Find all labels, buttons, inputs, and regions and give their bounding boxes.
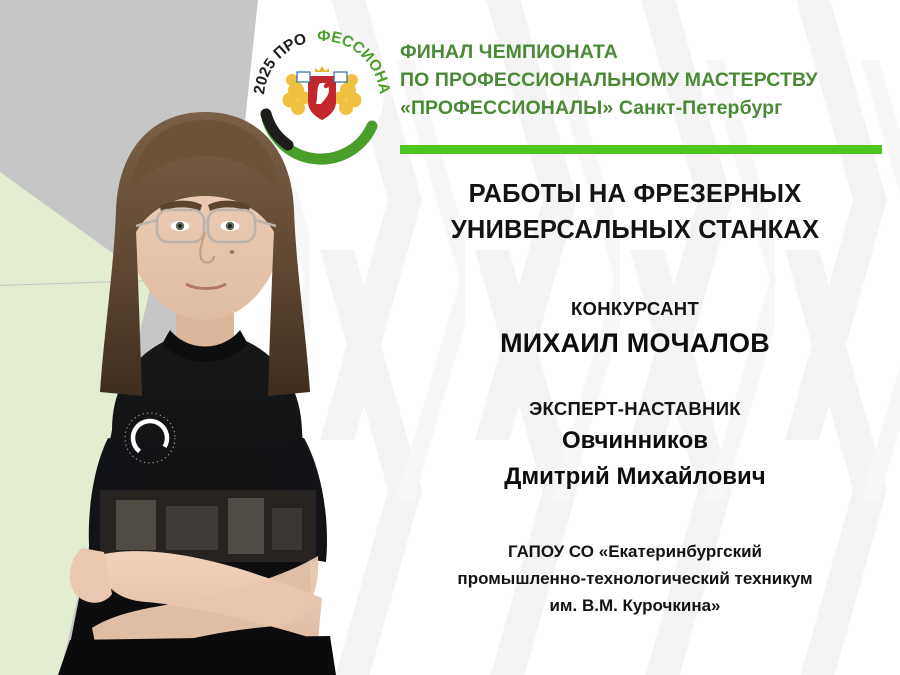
- expert-surname: Овчинников: [380, 424, 890, 458]
- header-line-3: «ПРОФЕССИОНАЛЫ» Санкт-Петербург: [400, 94, 890, 122]
- organization-line-3: им. В.М. Курочкина»: [380, 592, 890, 619]
- expert-block: ЭКСПЕРТ-НАСТАВНИК Овчинников Дмитрий Мих…: [380, 396, 890, 494]
- organization-line-1: ГАПОУ СО «Екатеринбургский: [380, 538, 890, 565]
- page-title: РАБОТЫ НА ФРЕЗЕРНЫХ УНИВЕРСАЛЬНЫХ СТАНКА…: [380, 176, 890, 248]
- header-line-1: ФИНАЛ ЧЕМПИОНАТА: [400, 38, 890, 66]
- professionaly-2025-emblem: 2025 ПРО ФЕССИОНАЛЫ: [248, 22, 396, 170]
- organization-block: ГАПОУ СО «Екатеринбургский промышленно-т…: [380, 538, 890, 619]
- championship-header: ФИНАЛ ЧЕМПИОНАТА ПО ПРОФЕССИОНАЛЬНОМУ МА…: [400, 38, 890, 122]
- title-line-2: УНИВЕРСАЛЬНЫХ СТАНКАХ: [380, 212, 890, 248]
- championship-poster: 2025 ПРО ФЕССИОНАЛЫ: [0, 0, 900, 675]
- header-line-2: ПО ПРОФЕССИОНАЛЬНОМУ МАСТЕРСТВУ: [400, 66, 890, 94]
- expert-role-label: ЭКСПЕРТ-НАСТАВНИК: [380, 396, 890, 422]
- green-divider-bar: [400, 145, 882, 154]
- contestant-block: КОНКУРСАНТ МИХАИЛ МОЧАЛОВ: [380, 296, 890, 362]
- contestant-role-label: КОНКУРСАНТ: [380, 296, 890, 322]
- contestant-name: МИХАИЛ МОЧАЛОВ: [380, 324, 890, 362]
- expert-given-patronymic: Дмитрий Михайлович: [380, 460, 890, 494]
- title-line-1: РАБОТЫ НА ФРЕЗЕРНЫХ: [380, 176, 890, 212]
- organization-line-2: промышленно-технологический техникум: [380, 565, 890, 592]
